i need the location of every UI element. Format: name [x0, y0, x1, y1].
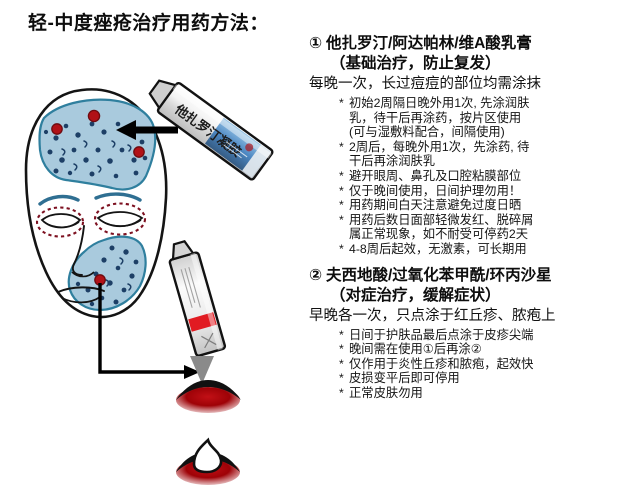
bullet-text: 仅于晚间使用，日间护理勿用！ — [349, 184, 521, 198]
section-2-heading: ②夫西地酸/过氧化苯甲酰/环丙沙星 — [309, 266, 628, 286]
section-1-bullet-list: *初始2周隔日晚外用1次, 先涂润肤 乳，待干后再涂药，按片区使用 (可与湿敷料… — [309, 96, 628, 257]
list-item: *日间于护肤品最后点涂于皮疹尖端 — [339, 328, 628, 343]
pustule-head — [194, 440, 221, 472]
section-1-usage: 每晚一次，长过痘痘的部位均需涂抹 — [309, 74, 628, 95]
bullet-text: 日间于护肤品最后点涂于皮疹尖端 — [349, 328, 533, 342]
section-2-usage: 早晚各一次，只点涂于红丘疹、脓疱上 — [309, 306, 628, 327]
illustration-panel: 他扎罗汀凝胶 — [0, 40, 305, 492]
bullet-mark: * — [339, 371, 344, 386]
section-1-number: ① — [309, 34, 326, 54]
section-1: ①他扎罗汀/阿达帕林/维A酸乳膏 （基础治疗，防止复发） 每晚一次，长过痘痘的部… — [309, 34, 628, 257]
list-item: *正常皮肤勿用 — [339, 386, 628, 401]
bullet-text: 2周后，每晚外用1次，先涂药, 待 干后再涂润肤乳 — [349, 140, 529, 169]
section-2-subheading: （对症治疗，缓解症状） — [309, 286, 628, 306]
list-item: *4-8周后起效，无激素，可长期用 — [339, 242, 628, 257]
list-item: *仅于晚间使用，日间护理勿用！ — [339, 184, 628, 199]
pustule-with-white-head — [176, 440, 240, 485]
list-item: *初始2周隔日晚外用1次, 先涂润肤 乳，待干后再涂药，按片区使用 (可与湿敷料… — [339, 96, 628, 140]
bullet-text: 避开眼周、鼻孔及口腔粘膜部位 — [349, 169, 521, 183]
bullet-text: 4-8周后起效，无激素，可长期用 — [349, 242, 527, 256]
illustration-svg: 他扎罗汀凝胶 — [0, 40, 305, 492]
bullet-mark: * — [339, 169, 344, 184]
bullet-text: 正常皮肤勿用 — [349, 386, 423, 400]
bullet-mark: * — [339, 96, 344, 111]
list-item: *用药后数日面部轻微发红、脱碎屑 属正常现象，如不耐受可停药2天 — [339, 213, 628, 242]
section-2-bullet-list: *日间于护肤品最后点涂于皮疹尖端 *晚间需在使用①后再涂② *仅作用于炎性丘疹和… — [309, 328, 628, 401]
bullet-mark: * — [339, 198, 344, 213]
section-2: ②夫西地酸/过氧化苯甲酰/环丙沙星 （对症治疗，缓解症状） 早晚各一次，只点涂于… — [309, 266, 628, 401]
bullet-mark: * — [339, 140, 344, 155]
list-item: *晚间需在使用①后再涂② — [339, 342, 628, 357]
bullet-mark: * — [339, 386, 344, 401]
bullet-text: 初始2周隔日晚外用1次, 先涂润肤 乳，待干后再涂药，按片区使用 (可与湿敷料配… — [349, 96, 529, 139]
bullet-text: 晚间需在使用①后再涂② — [349, 342, 482, 356]
bullet-mark: * — [339, 213, 344, 228]
bullet-text: 皮损变平后即可停用 — [349, 371, 460, 385]
section-1-heading: ①他扎罗汀/阿达帕林/维A酸乳膏 — [309, 34, 628, 54]
list-item: *避开眼周、鼻孔及口腔粘膜部位 — [339, 169, 628, 184]
page-title: 轻-中度痤疮治疗用药方法： — [28, 8, 269, 35]
poster-root: 轻-中度痤疮治疗用药方法： — [0, 0, 628, 492]
bullet-text: 用药期间白天注意避免过度日晒 — [349, 198, 521, 212]
bullet-mark: * — [339, 184, 344, 199]
section-2-number: ② — [309, 266, 326, 286]
list-item: *2周后，每晚外用1次，先涂药, 待 干后再涂润肤乳 — [339, 140, 628, 169]
list-item: *用药期间白天注意避免过度日晒 — [339, 198, 628, 213]
bullet-text: 用药后数日面部轻微发红、脱碎屑 属正常现象，如不耐受可停药2天 — [349, 213, 533, 242]
bullet-mark: * — [339, 242, 344, 257]
face-diagram — [26, 89, 166, 317]
section-1-heading-text: 他扎罗汀/阿达帕林/维A酸乳膏 — [326, 35, 532, 52]
list-item: *仅作用于炎性丘疹和脓疱，起效快 — [339, 357, 628, 372]
tube-spot-treatment — [165, 239, 225, 357]
bullet-mark: * — [339, 328, 344, 343]
section-2-heading-text: 夫西地酸/过氧化苯甲酰/环丙沙星 — [326, 267, 552, 284]
bullet-text: 仅作用于炎性丘疹和脓疱，起效快 — [349, 357, 533, 371]
red-papule — [176, 380, 241, 413]
instructions-column: ①他扎罗汀/阿达帕林/维A酸乳膏 （基础治疗，防止复发） 每晚一次，长过痘痘的部… — [309, 34, 628, 492]
bullet-mark: * — [339, 342, 344, 357]
list-item: *皮损变平后即可停用 — [339, 371, 628, 386]
bullet-mark: * — [339, 357, 344, 372]
section-1-subheading: （基础治疗，防止复发） — [309, 54, 628, 74]
